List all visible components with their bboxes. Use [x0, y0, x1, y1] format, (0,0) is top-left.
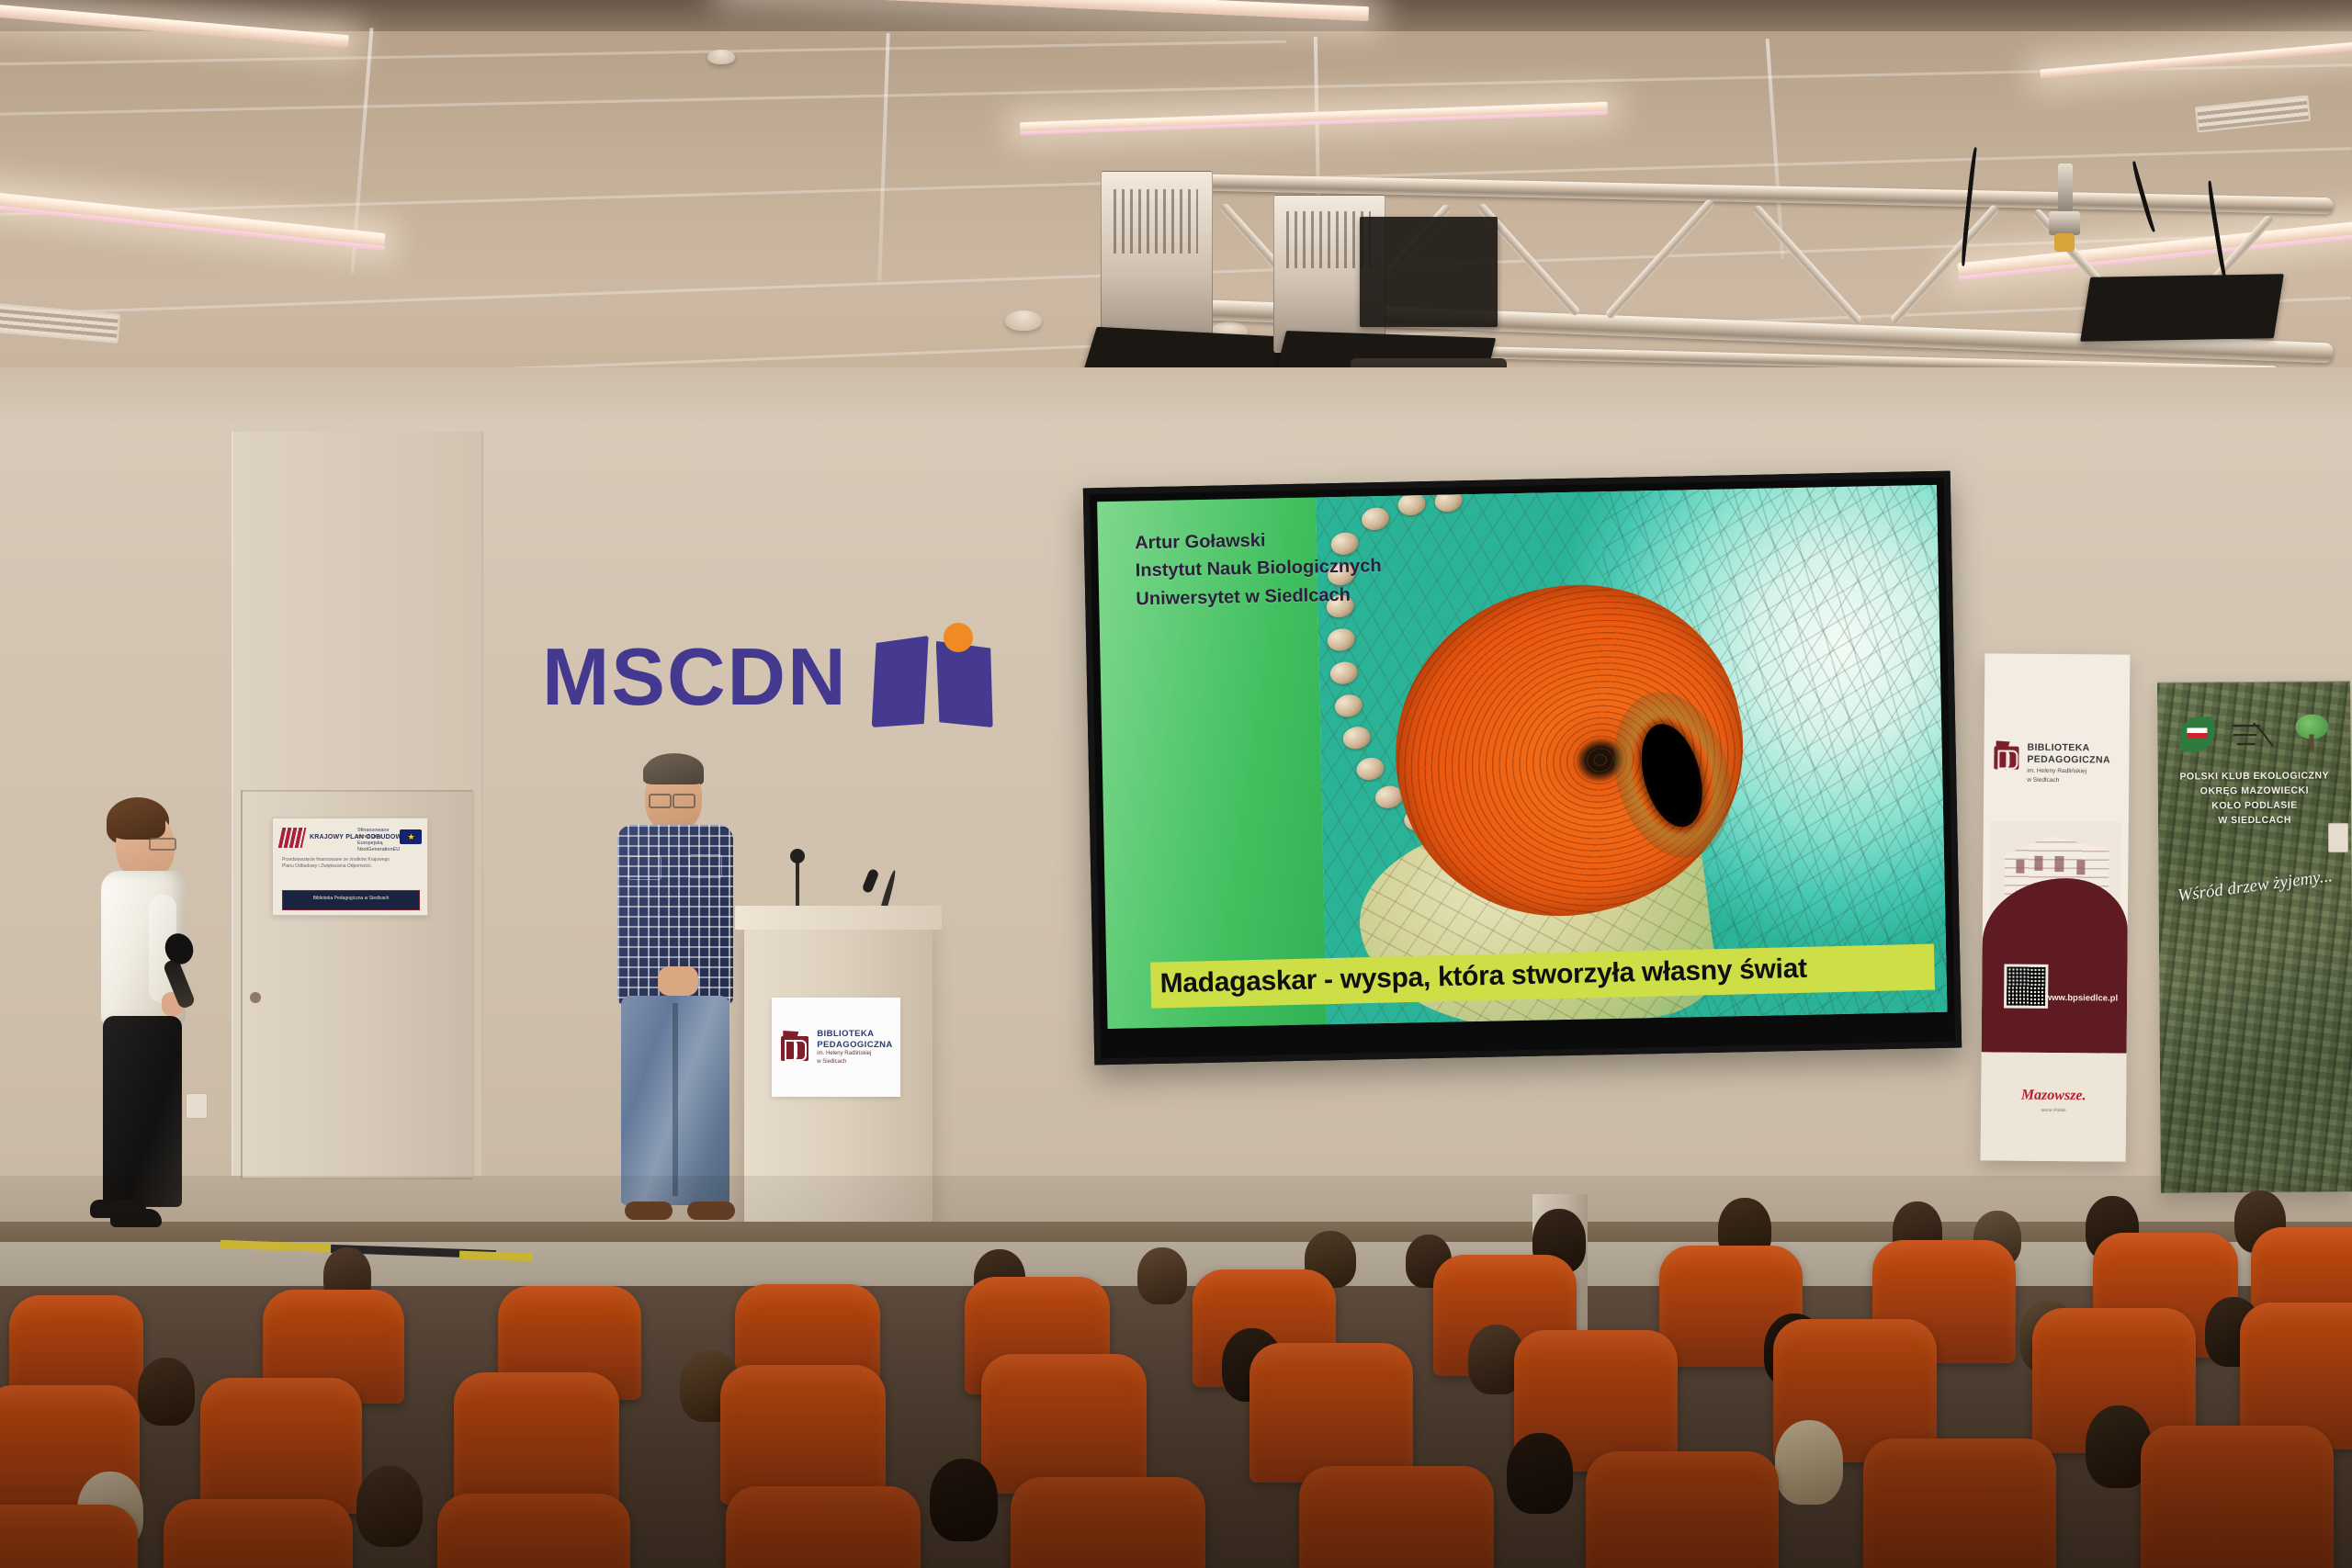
banner2-line1: POLSKI KLUB EKOLOGICZNY [2158, 769, 2351, 784]
audience-head [356, 1466, 423, 1547]
fluorescent-strip-light [2040, 40, 2352, 78]
banner-line1: BIBLIOTEKA [2027, 742, 2110, 755]
shoe [687, 1201, 735, 1220]
audience-seat[interactable] [1249, 1343, 1413, 1483]
audience-seat[interactable] [1863, 1438, 2056, 1568]
presentation-screen[interactable]: Artur Goławski Instytut Nauk Biologiczny… [1083, 471, 1962, 1066]
eu-project-plaque: KRAJOWY PLAN ODBUDOWY Sfinansowane przez… [272, 818, 428, 916]
qr-code-icon[interactable] [2004, 964, 2048, 1009]
plaque-footer-band: Biblioteka Pedagogiczna w Siedlcach [282, 890, 420, 910]
audience-seat[interactable] [726, 1486, 921, 1568]
branch-icon [2232, 718, 2274, 750]
audience-seat[interactable] [200, 1378, 362, 1514]
roll-up-banner-polski-klub-ekologiczny: POLSKI KLUB EKOLOGICZNY OKRĘG MAZOWIECKI… [2157, 681, 2352, 1192]
auditorium-scene: KRAJOWY PLAN ODBUDOWY Sfinansowane przez… [0, 0, 2352, 1568]
wall-upper-band [0, 367, 2352, 423]
smoke-detector-icon [1005, 310, 1042, 331]
lectern-sign-line3: im. Heleny Radlińskiej [817, 1051, 892, 1058]
glasses-icon [649, 794, 672, 808]
banner-footer [1981, 1052, 2127, 1161]
tree-icon [2291, 714, 2332, 752]
lectern-sign-line4: w Siedlcach [817, 1059, 892, 1066]
mscdn-wall-logo: MSCDN [542, 623, 1001, 731]
banner-line2: PEDAGOGICZNA [2027, 754, 2110, 767]
mazowsze-logo: Mazowsze. [2021, 1088, 2086, 1105]
audience-seat[interactable] [164, 1499, 353, 1568]
audience-seat[interactable] [0, 1505, 138, 1568]
leaf-flag-icon [2179, 716, 2214, 751]
slide-content: Artur Goławski Instytut Nauk Biologiczny… [1097, 485, 1947, 1029]
lectern-sign: BIBLIOTEKA PEDAGOGICZNA im. Heleny Radli… [772, 998, 900, 1097]
biblioteka-pedagogiczna-logo-icon [1994, 741, 2021, 773]
standing-speaker [603, 753, 786, 1249]
banner-line4: w Siedlcach [2027, 777, 2110, 785]
audience-seat[interactable] [1011, 1477, 1205, 1568]
audience-seat[interactable] [2141, 1426, 2334, 1568]
lectern-sign-line2: PEDAGOGICZNA [817, 1040, 892, 1051]
plaque-body-text: Przedsięwzięcie finansowane ze środków K… [282, 857, 398, 870]
slide-title: Madagaskar - wyspa, która stworzyła włas… [1159, 953, 1807, 999]
slide-affiliation-2: Uniwersytet w Siedlcach [1136, 581, 1382, 614]
light-switch-icon[interactable] [2328, 823, 2348, 852]
audience-seat[interactable] [1299, 1466, 1494, 1568]
shoe [625, 1201, 673, 1220]
slide-author-block: Artur Goławski Instytut Nauk Biologiczny… [1135, 525, 1383, 614]
mscdn-logo-text: MSCDN [542, 637, 848, 717]
audience-seat[interactable] [981, 1354, 1147, 1494]
banner2-line3: KOŁO PODLASIE [2158, 798, 2351, 814]
glasses-icon [673, 794, 695, 808]
roll-up-banner-biblioteka: BIBLIOTEKA PEDAGOGICZNA im. Heleny Radli… [1981, 653, 2131, 1161]
audience-head [930, 1459, 998, 1541]
standing-moderator-with-microphone [92, 797, 294, 1293]
audience-seat[interactable] [437, 1494, 630, 1568]
smoke-detector-icon [707, 50, 735, 64]
open-book-icon [872, 623, 1001, 731]
audience-head [1137, 1247, 1187, 1304]
small-spot-light [2058, 164, 2073, 213]
slide-affiliation-1: Instytut Nauk Biologicznych [1136, 552, 1382, 585]
microphone-capsule-icon [790, 849, 805, 863]
orange-dot-icon [944, 623, 973, 652]
audience-head [138, 1358, 195, 1426]
lectern-sign-line1: BIBLIOTEKA [817, 1029, 892, 1040]
audience-seat[interactable] [720, 1365, 886, 1505]
mazowsze-tagline: serce Polski [2041, 1108, 2066, 1113]
audience-seat[interactable] [454, 1372, 619, 1510]
banner-rail [1981, 653, 2130, 654]
bark-photo-background [2157, 681, 2352, 1192]
shoe [110, 1209, 162, 1227]
banner-line3: im. Heleny Radlińskiej [2027, 767, 2110, 775]
air-vent-icon [2195, 96, 2311, 133]
eu-flag-icon: ★ [400, 829, 422, 844]
audience-seat[interactable] [1586, 1451, 1779, 1568]
glasses-icon [149, 838, 176, 851]
banner2-line4: W SIEDLCACH [2158, 813, 2351, 829]
chameleon-photo [1316, 485, 1948, 1024]
audience-head [1507, 1433, 1573, 1514]
banner-url[interactable]: www.bpsiedlce.pl [2045, 993, 2118, 1004]
audience-head [1775, 1420, 1843, 1505]
plaque-subtitle-label: Sfinansowane przez Unię Europejską NextG… [357, 828, 400, 854]
banner2-line2: OKRĘG MAZOWIECKI [2158, 784, 2351, 799]
